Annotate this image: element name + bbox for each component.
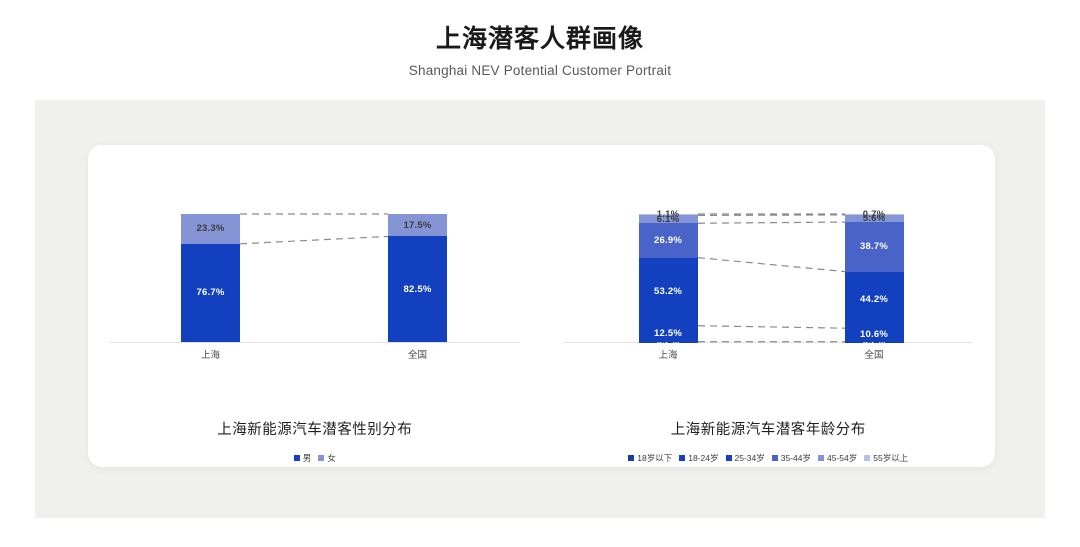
bar-segment-label: 10.6%	[860, 329, 888, 340]
page-subtitle: Shanghai NEV Potential Customer Portrait	[0, 63, 1080, 78]
bar-segment-label: 26.9%	[654, 235, 682, 246]
legend-label: 45-54岁	[827, 452, 857, 464]
legend-item[interactable]: 男	[294, 452, 312, 464]
axis-category-label: 上海	[628, 347, 708, 361]
bar-segment: 5.6%	[845, 215, 904, 222]
legend-item[interactable]: 18-24岁	[679, 452, 718, 464]
legend-item[interactable]: 18岁以下	[628, 452, 672, 464]
connector-lines	[88, 187, 542, 387]
axis-category-label: 上海	[171, 347, 251, 361]
bar-gender-distribution-1: 82.5%17.5%	[388, 214, 447, 342]
bar-segment: 76.7%	[181, 244, 240, 342]
bar-segment: 12.5%	[639, 326, 698, 342]
gender-chart-caption: 上海新能源汽车潜客性别分布	[88, 418, 542, 439]
legend-label: 18-24岁	[688, 452, 718, 464]
bar-segment-label: 38.7%	[860, 241, 888, 252]
gender-chart-axis	[110, 342, 520, 343]
legend-swatch-icon	[864, 455, 870, 461]
bar-segment-label: 6.1%	[657, 214, 679, 225]
connector-lines	[542, 187, 996, 387]
age-chart-plot: 0.2%12.5%53.2%26.9%6.1%1.1%上海0.2%10.6%44…	[542, 187, 996, 387]
legend-swatch-icon	[818, 455, 824, 461]
page-title: 上海潜客人群画像	[0, 24, 1080, 54]
bar-segment: 53.2%	[639, 258, 698, 326]
charts-row: 76.7%23.3%上海82.5%17.5%全国 上海新能源汽车潜客性别分布 男…	[88, 145, 995, 467]
age-chart-caption: 上海新能源汽车潜客年龄分布	[542, 418, 996, 439]
legend-item[interactable]: 女	[318, 452, 336, 464]
legend-label: 25-34岁	[735, 452, 765, 464]
bar-segment-label: 17.5%	[404, 220, 432, 231]
bar-segment: 10.6%	[845, 328, 904, 342]
legend-label: 35-44岁	[781, 452, 811, 464]
legend-swatch-icon	[679, 455, 685, 461]
bar-segment: 17.5%	[388, 214, 447, 236]
legend-label: 女	[327, 452, 336, 464]
age-chart-footer: 上海新能源汽车潜客年龄分布	[542, 404, 996, 439]
legend-label: 55岁以上	[873, 452, 908, 464]
bar-segment-label: 12.5%	[654, 328, 682, 339]
bar-segment: 6.1%	[639, 215, 698, 223]
bar-segment-label: 23.3%	[197, 223, 225, 234]
bar-segment-label: 44.2%	[860, 294, 888, 305]
chart-gender-distribution: 76.7%23.3%上海82.5%17.5%全国 上海新能源汽车潜客性别分布 男…	[88, 145, 542, 467]
bar-segment: 0.7%	[845, 214, 904, 215]
axis-category-label: 全国	[378, 347, 458, 361]
legend-item[interactable]: 25-34岁	[726, 452, 765, 464]
age-chart-axis	[564, 342, 974, 343]
legend-swatch-icon	[772, 455, 778, 461]
bar-segment: 1.1%	[639, 214, 698, 215]
legend-item[interactable]: 35-44岁	[772, 452, 811, 464]
legend-swatch-icon	[294, 455, 300, 461]
bar-gender-distribution-0: 76.7%23.3%	[181, 214, 240, 342]
legend-swatch-icon	[628, 455, 634, 461]
legend-label: 18岁以下	[637, 452, 672, 464]
legend-item[interactable]: 55岁以上	[864, 452, 908, 464]
axis-category-label: 全国	[834, 347, 914, 361]
bar-segment: 38.7%	[845, 222, 904, 272]
legend-label: 男	[303, 452, 312, 464]
legend-swatch-icon	[318, 455, 324, 461]
page-header: 上海潜客人群画像 Shanghai NEV Potential Customer…	[0, 0, 1080, 78]
gender-chart-plot: 76.7%23.3%上海82.5%17.5%全国	[88, 187, 542, 387]
age-chart-legend: 18岁以下18-24岁25-34岁35-44岁45-54岁55岁以上	[542, 452, 996, 464]
gender-chart-legend: 男女	[88, 452, 542, 464]
legend-swatch-icon	[726, 455, 732, 461]
chart-age-distribution: 0.2%12.5%53.2%26.9%6.1%1.1%上海0.2%10.6%44…	[542, 145, 996, 467]
legend-item[interactable]: 45-54岁	[818, 452, 857, 464]
bar-age-distribution-0: 0.2%12.5%53.2%26.9%6.1%1.1%	[639, 214, 698, 342]
bar-segment-label: 76.7%	[197, 287, 225, 298]
bar-age-distribution-1: 0.2%10.6%44.2%38.7%5.6%0.7%	[845, 214, 904, 342]
bar-segment: 82.5%	[388, 236, 447, 342]
bar-segment: 26.9%	[639, 223, 698, 257]
gender-chart-footer: 上海新能源汽车潜客性别分布	[88, 404, 542, 439]
bar-segment-label: 82.5%	[404, 284, 432, 295]
bar-segment-label: 53.2%	[654, 286, 682, 297]
bar-segment: 44.2%	[845, 272, 904, 329]
bar-segment: 23.3%	[181, 214, 240, 244]
